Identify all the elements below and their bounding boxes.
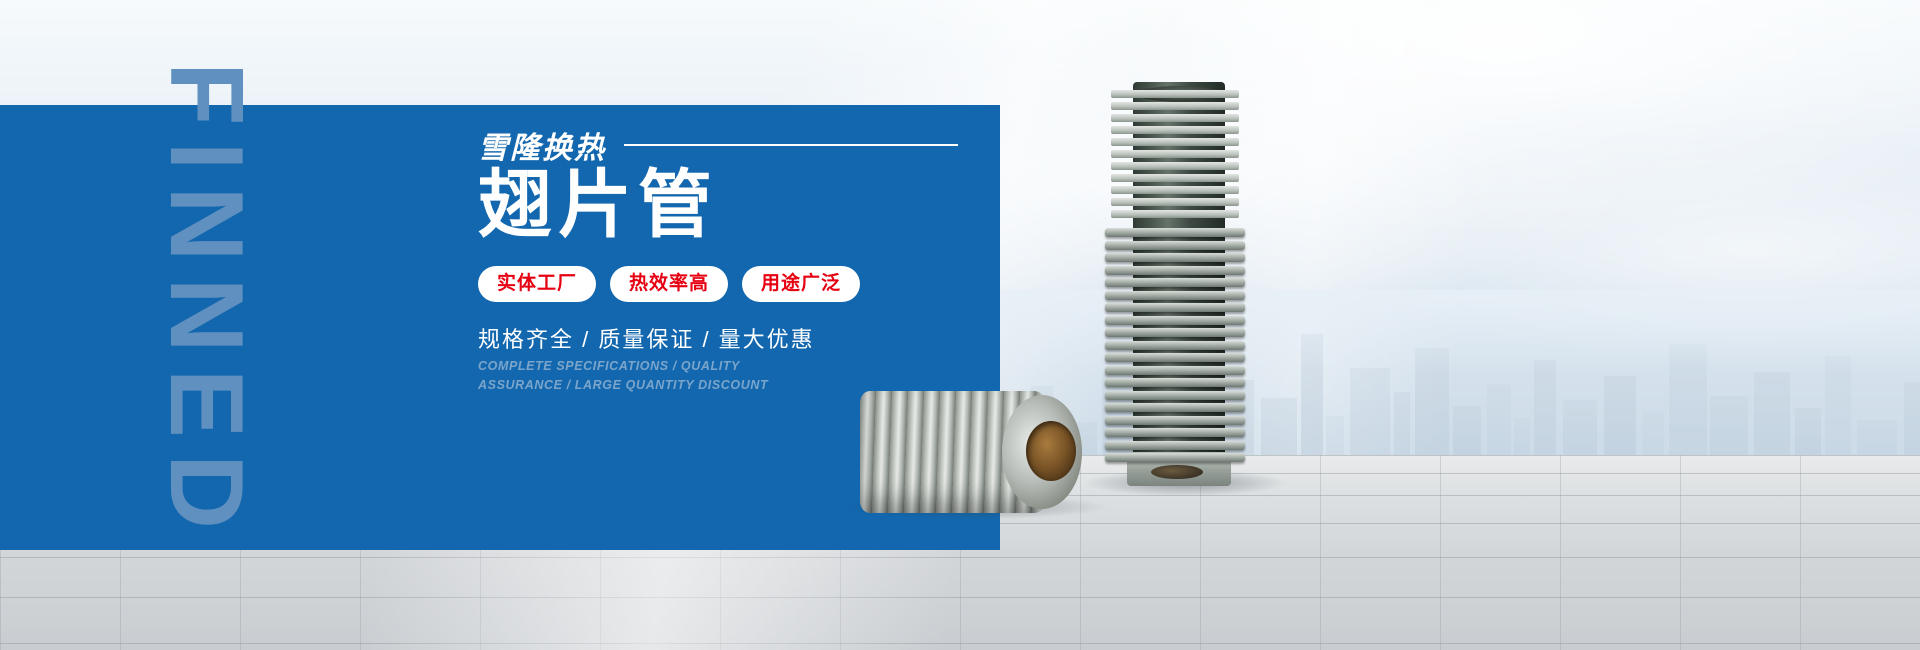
finned-watermark-text: FINNED: [154, 62, 258, 545]
tube-fin: [1105, 391, 1245, 400]
status-badge: 实体工厂: [478, 266, 596, 302]
tube-fin: [1105, 303, 1245, 312]
tube-fin: [1111, 126, 1239, 134]
tube-fin: [1105, 378, 1245, 387]
tube-fin: [1105, 353, 1245, 362]
tube-fin: [1105, 291, 1245, 300]
tube-fin: [1111, 186, 1239, 194]
status-badge: 用途广泛: [742, 266, 860, 302]
horizontal-finned-tube-image: [860, 385, 1090, 520]
tube-fin: [1105, 416, 1245, 425]
tube-fin: [1111, 174, 1239, 182]
tube-fin: [1111, 162, 1239, 170]
vertical-finned-tube-image: [1105, 82, 1245, 482]
tube-fin: [1111, 150, 1239, 158]
feature-badge-group: 实体工厂 热效率高 用途广泛: [478, 266, 860, 302]
tube-bore-opening: [1151, 465, 1203, 479]
tube-fin: [1105, 441, 1245, 450]
tube-fin: [1105, 253, 1245, 262]
tube-fin: [1105, 403, 1245, 412]
tube-fin: [1111, 198, 1239, 206]
tube-fin: [1111, 114, 1239, 122]
tube-fin: [1105, 266, 1245, 275]
tube-inner-bore: [1026, 421, 1076, 481]
subtitle-english: COMPLETE SPECIFICATIONS / QUALITY ASSURA…: [478, 357, 808, 396]
tube-fin: [1105, 341, 1245, 350]
tube-fin: [1105, 228, 1245, 237]
tube-fin: [1111, 210, 1239, 218]
brand-divider-line: [624, 144, 958, 146]
tube-fin: [1105, 316, 1245, 325]
tube-fin: [1111, 90, 1239, 98]
tube-fin: [1105, 278, 1245, 287]
tube-fin: [1105, 241, 1245, 250]
tube-fin: [1105, 428, 1245, 437]
tube-fin: [1111, 138, 1239, 146]
status-badge: 热效率高: [610, 266, 728, 302]
tube-fin: [1105, 366, 1245, 375]
brand-row: 雪隆换热: [478, 123, 958, 167]
tube-fin: [1111, 102, 1239, 110]
tube-fin: [1105, 328, 1245, 337]
subtitle-chinese: 规格齐全 / 质量保证 / 量大优惠: [478, 322, 815, 354]
page-title: 翅片管: [478, 168, 718, 242]
product-banner: FINNED 雪隆换热 翅片管 实体工厂 热效率高 用途广泛 规格齐全 / 质量…: [0, 0, 1920, 650]
tube-fin: [1105, 453, 1245, 462]
brand-name: 雪隆换热: [478, 123, 606, 167]
